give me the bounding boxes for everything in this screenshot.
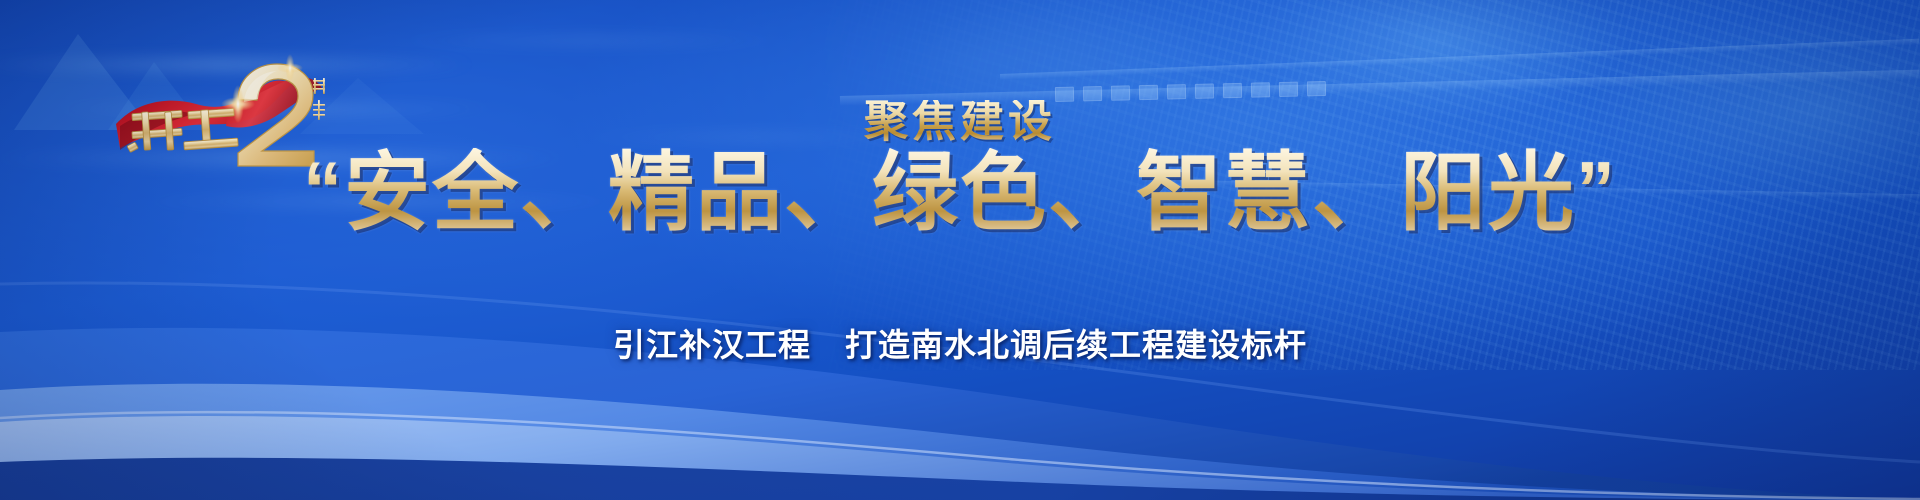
wave-icon <box>0 240 1920 500</box>
open-quote: “ <box>303 145 344 233</box>
wave-decoration <box>0 240 1920 500</box>
sign-chip-icon <box>1307 81 1326 96</box>
subtitle-part-1: 引江补汉工程 <box>613 327 811 363</box>
banner-root: 聚焦建设 “安全、精品、绿色、智慧、阳光” 引江补汉工程打造南水北调后续工程建设… <box>0 0 1920 500</box>
sign-chip-icon <box>1195 83 1214 98</box>
eyebrow-title: 聚焦建设 <box>0 100 1920 144</box>
page-title: “安全、精品、绿色、智慧、阳光” <box>0 148 1920 238</box>
sign-chip-icon <box>1111 85 1130 100</box>
sign-chip-icon <box>1139 85 1158 100</box>
sign-chip-icon <box>1279 82 1298 97</box>
sign-chip-icon <box>1167 84 1186 99</box>
main-title-text: 安全、精品、绿色、智慧、阳光 <box>344 145 1576 241</box>
close-quote: ” <box>1576 145 1617 233</box>
sign-chip-icon <box>1251 82 1270 97</box>
subtitle-part-2: 打造南水北调后续工程建设标杆 <box>845 327 1307 363</box>
sign-chip-icon <box>1223 83 1242 98</box>
subtitle: 引江补汉工程打造南水北调后续工程建设标杆 <box>0 320 1920 366</box>
mist-streak <box>380 36 800 45</box>
